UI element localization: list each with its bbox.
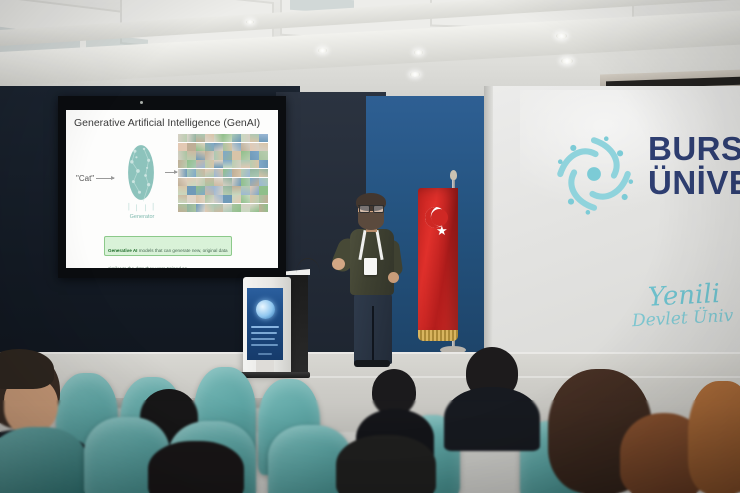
wall-brand-title: BURS ÜNİVE xyxy=(648,132,740,200)
generated-image-thumb xyxy=(232,186,241,194)
generated-image-thumb xyxy=(232,195,241,203)
generated-image-thumb xyxy=(223,186,232,194)
speaker-right-hand xyxy=(388,272,399,283)
generated-image-thumb xyxy=(259,186,268,194)
speaker-presenter xyxy=(330,196,414,366)
generated-image-grid xyxy=(178,134,268,212)
generated-image-thumb xyxy=(178,151,187,159)
generated-image-thumb xyxy=(259,195,268,203)
teal-swirl-rosette-icon xyxy=(548,128,640,220)
slide-generator-label: Generator xyxy=(112,214,172,220)
generated-image-thumb xyxy=(241,151,250,159)
generated-image-thumb xyxy=(241,186,250,194)
generated-image-thumb xyxy=(232,204,241,212)
generated-image-thumb xyxy=(178,186,187,194)
generated-image-thumb xyxy=(250,204,259,212)
generated-image-thumb xyxy=(178,169,187,177)
generated-image-thumb xyxy=(214,143,223,151)
generated-image-thumb xyxy=(205,160,214,168)
generated-image-thumb xyxy=(223,160,232,168)
generated-image-thumb xyxy=(205,178,214,186)
screen-marker-dot xyxy=(140,101,143,104)
generated-image-thumb xyxy=(250,186,259,194)
generated-image-thumb xyxy=(232,160,241,168)
generated-image-thumb xyxy=(178,195,187,203)
generated-image-thumb xyxy=(223,134,232,142)
generated-image-thumb xyxy=(178,134,187,142)
generated-image-thumb xyxy=(205,195,214,203)
generated-image-thumb xyxy=(196,178,205,186)
callout-emphasis: Generative AI xyxy=(108,248,137,253)
generated-image-thumb xyxy=(205,169,214,177)
generated-image-thumb xyxy=(187,195,196,203)
generated-image-thumb xyxy=(223,143,232,151)
flag-finial xyxy=(450,170,457,180)
generator-network-diagram xyxy=(118,136,164,212)
speaker-beard xyxy=(358,212,384,230)
generated-image-thumb xyxy=(223,195,232,203)
slide-callout: Generative AI models that can generate n… xyxy=(104,236,232,256)
podium-display xyxy=(247,288,283,360)
audience-member-2-foreground xyxy=(148,441,244,493)
audience-member-1-hair xyxy=(0,349,54,389)
generated-image-thumb xyxy=(232,143,241,151)
generated-image-thumb xyxy=(214,186,223,194)
podium-display-logo xyxy=(256,300,275,319)
podium-display-line xyxy=(251,344,278,346)
generated-image-thumb xyxy=(196,143,205,151)
downlight xyxy=(246,20,254,24)
generated-image-thumb xyxy=(232,151,241,159)
generated-image-thumb xyxy=(214,151,223,159)
generated-image-thumb xyxy=(205,134,214,142)
generated-image-thumb xyxy=(223,169,232,177)
generated-image-thumb xyxy=(259,160,268,168)
generated-image-thumb xyxy=(241,134,250,142)
generated-image-thumb xyxy=(196,151,205,159)
speaker-badge xyxy=(364,258,377,275)
generated-image-thumb xyxy=(187,160,196,168)
generated-image-thumb xyxy=(187,178,196,186)
generated-image-thumb xyxy=(223,151,232,159)
generated-image-thumb xyxy=(259,143,268,151)
generated-image-thumb xyxy=(241,160,250,168)
generated-image-thumb xyxy=(214,169,223,177)
wall-title-line2: ÜNİVE xyxy=(648,166,740,200)
speaker-glasses-lens-left xyxy=(359,205,370,213)
generated-image-thumb xyxy=(259,169,268,177)
generated-image-thumb xyxy=(187,134,196,142)
generated-image-thumb xyxy=(196,169,205,177)
generated-image-thumb xyxy=(205,186,214,194)
generated-image-thumb xyxy=(259,178,268,186)
generated-image-thumb xyxy=(178,143,187,151)
generated-image-thumb xyxy=(250,178,259,186)
generated-image-thumb xyxy=(214,204,223,212)
audience-area xyxy=(0,355,740,493)
generated-image-thumb xyxy=(205,143,214,151)
generated-image-thumb xyxy=(241,178,250,186)
slide-arrow-2 xyxy=(165,172,177,173)
generated-image-thumb xyxy=(196,186,205,194)
generated-image-thumb xyxy=(205,151,214,159)
generated-image-thumb xyxy=(250,134,259,142)
generated-image-thumb xyxy=(232,134,241,142)
downlight xyxy=(414,50,423,55)
generated-image-thumb xyxy=(223,204,232,212)
generated-image-thumb xyxy=(259,204,268,212)
flag-fringe xyxy=(418,330,458,341)
generated-image-thumb xyxy=(214,195,223,203)
generated-image-thumb xyxy=(241,143,250,151)
downlight xyxy=(410,72,420,77)
generated-image-thumb xyxy=(232,178,241,186)
downlight xyxy=(318,48,327,53)
podium-display-line xyxy=(251,338,275,340)
podium-display-line xyxy=(251,332,277,334)
generated-image-thumb xyxy=(187,169,196,177)
downlight xyxy=(561,58,573,64)
generated-image-thumb xyxy=(187,151,196,159)
podium-display-line xyxy=(251,326,279,328)
generated-image-thumb xyxy=(187,204,196,212)
generated-image-thumb xyxy=(196,204,205,212)
generated-image-thumb xyxy=(259,134,268,142)
generated-image-thumb xyxy=(214,160,223,168)
generated-image-thumb xyxy=(178,178,187,186)
generated-image-thumb xyxy=(250,195,259,203)
presentation-photo-scene: BURSA TEKNİK ÜNİVERSİTESİ Yenilikçi Üniv… xyxy=(0,0,740,493)
generated-image-thumb xyxy=(241,169,250,177)
generated-image-thumb xyxy=(196,134,205,142)
audience-member-6-hair xyxy=(688,381,740,493)
generated-image-thumb xyxy=(250,143,259,151)
generated-image-thumb xyxy=(205,204,214,212)
audience-shoulders xyxy=(444,387,540,451)
generated-image-thumb xyxy=(196,195,205,203)
generated-image-thumb xyxy=(223,178,232,186)
audience-member-foreground xyxy=(336,435,436,493)
slide-title: Generative Artificial Intelligence (GenA… xyxy=(74,117,272,129)
downlight xyxy=(556,33,567,39)
generated-image-thumb xyxy=(241,204,250,212)
generated-image-thumb xyxy=(214,134,223,142)
wall-title-line1: BURS xyxy=(648,132,740,166)
slide-arrow-1 xyxy=(96,178,114,179)
speaker-left-hand xyxy=(332,258,345,270)
chair xyxy=(0,427,86,493)
generated-image-thumb xyxy=(250,169,259,177)
generated-image-thumb xyxy=(187,186,196,194)
generated-image-thumb xyxy=(187,143,196,151)
generated-image-thumb xyxy=(178,160,187,168)
slide-input-label: "Cat" xyxy=(76,174,94,183)
generated-image-thumb xyxy=(214,178,223,186)
generated-image-thumb xyxy=(250,160,259,168)
generated-image-thumb xyxy=(241,195,250,203)
generated-image-thumb xyxy=(232,169,241,177)
presentation-slide: Generative Artificial Intelligence (GenA… xyxy=(66,110,278,268)
generated-image-thumb xyxy=(178,204,187,212)
generated-image-thumb xyxy=(250,151,259,159)
generated-image-thumb xyxy=(196,160,205,168)
speaker-glasses-lens-right xyxy=(373,205,384,213)
generated-image-thumb xyxy=(259,151,268,159)
